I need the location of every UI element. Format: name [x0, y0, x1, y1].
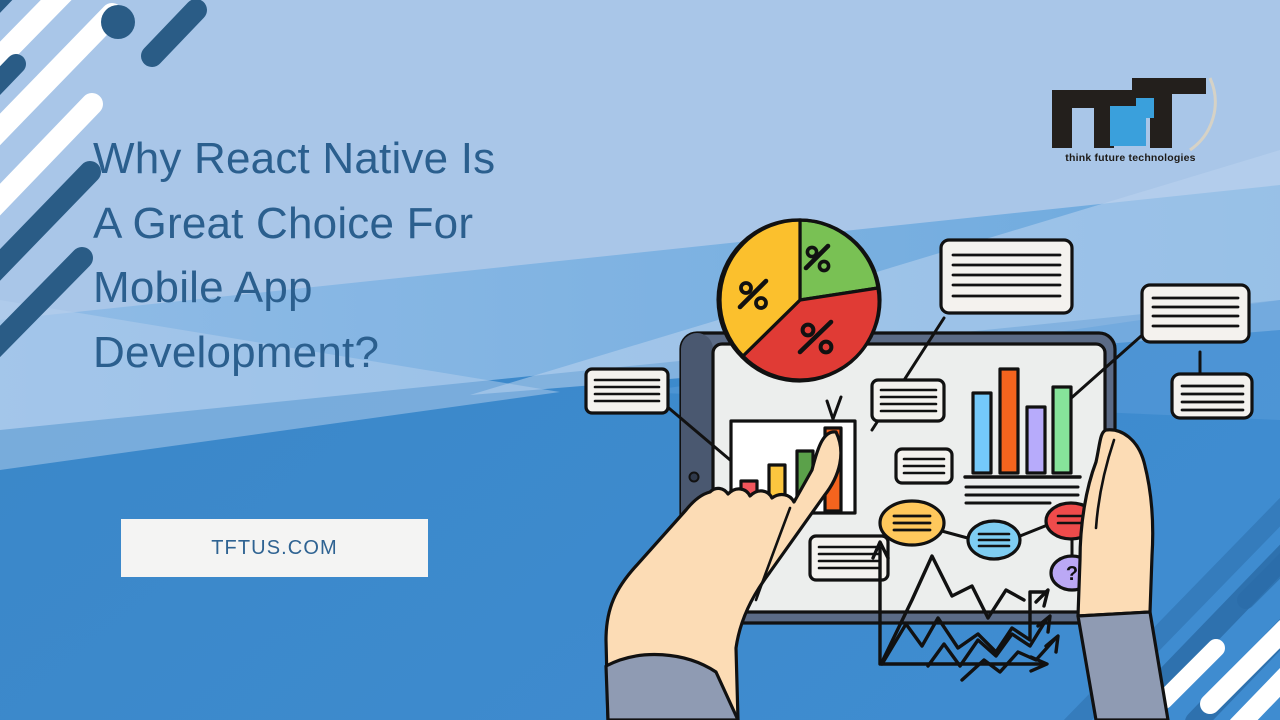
logo-tagline: think future technologies: [1038, 152, 1223, 164]
headline-line-2: A Great Choice For: [93, 192, 633, 257]
headline-line-3: Mobile App: [93, 256, 633, 321]
website-badge[interactable]: TFTUS.COM: [121, 519, 428, 577]
page-title: Why React Native Is A Great Choice For M…: [93, 127, 633, 386]
svg-text:?: ?: [1066, 563, 1078, 585]
logo-monogram-icon: [1038, 64, 1223, 156]
brand-logo: think future technologies: [1038, 64, 1223, 184]
headline-line-4: Development?: [93, 321, 633, 386]
pie-chart: [718, 220, 880, 381]
poster-canvas: ?: [0, 0, 1280, 720]
right-hand-holding: [1078, 430, 1168, 720]
headline-line-1: Why React Native Is: [93, 127, 633, 192]
website-badge-label: TFTUS.COM: [211, 537, 338, 560]
